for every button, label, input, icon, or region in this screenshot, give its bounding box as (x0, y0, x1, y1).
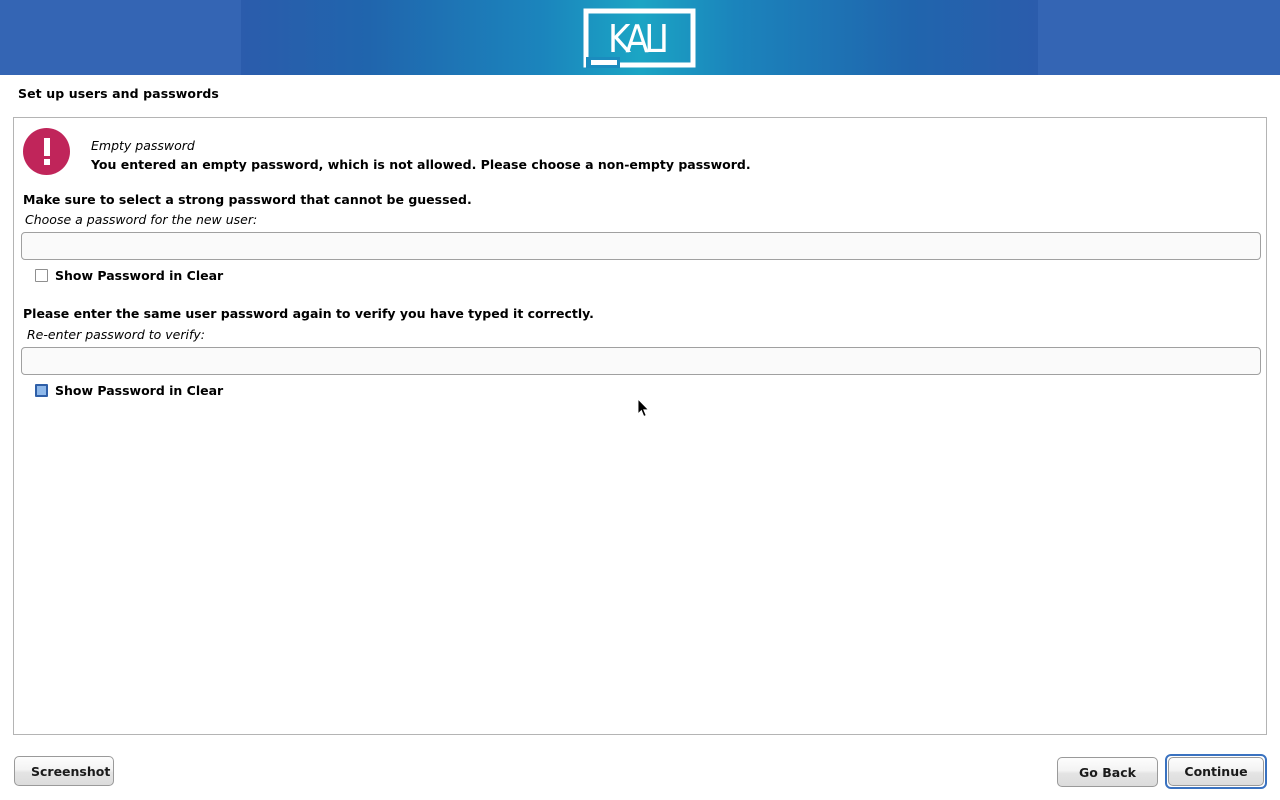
show-password-checkbox-2[interactable] (35, 384, 48, 397)
installer-content-panel: Empty password You entered an empty pass… (13, 117, 1267, 735)
kali-banner: KALI (0, 0, 1280, 75)
kali-logo-text: KALI (608, 17, 670, 61)
verify-password-input[interactable] (21, 347, 1261, 375)
show-password-checkbox-row-2[interactable]: Show Password in Clear (35, 383, 223, 398)
exclamation-dot (44, 159, 50, 165)
screenshot-button[interactable]: Screenshot (14, 756, 114, 786)
continue-button-focus-ring: Continue (1165, 754, 1267, 789)
show-password-checkbox-1[interactable] (35, 269, 48, 282)
exclamation-bar (44, 138, 50, 156)
show-password-label-2: Show Password in Clear (55, 383, 223, 398)
error-title: Empty password (91, 138, 195, 153)
kali-logo-icon: KALI (583, 8, 696, 68)
page-title: Set up users and passwords (18, 86, 219, 101)
error-message: You entered an empty password, which is … (91, 157, 751, 172)
verify-field-label: Re-enter password to verify: (27, 327, 205, 342)
password-field-label: Choose a password for the new user: (25, 212, 257, 227)
password-input[interactable] (21, 232, 1261, 260)
go-back-button[interactable]: Go Back (1057, 757, 1158, 787)
show-password-label-1: Show Password in Clear (55, 268, 223, 283)
error-exclamation-icon (23, 128, 70, 175)
verify-password-note: Please enter the same user password agai… (23, 306, 594, 321)
show-password-checkbox-row-1[interactable]: Show Password in Clear (35, 268, 223, 283)
continue-button[interactable]: Continue (1168, 757, 1264, 786)
strong-password-note: Make sure to select a strong password th… (23, 192, 472, 207)
